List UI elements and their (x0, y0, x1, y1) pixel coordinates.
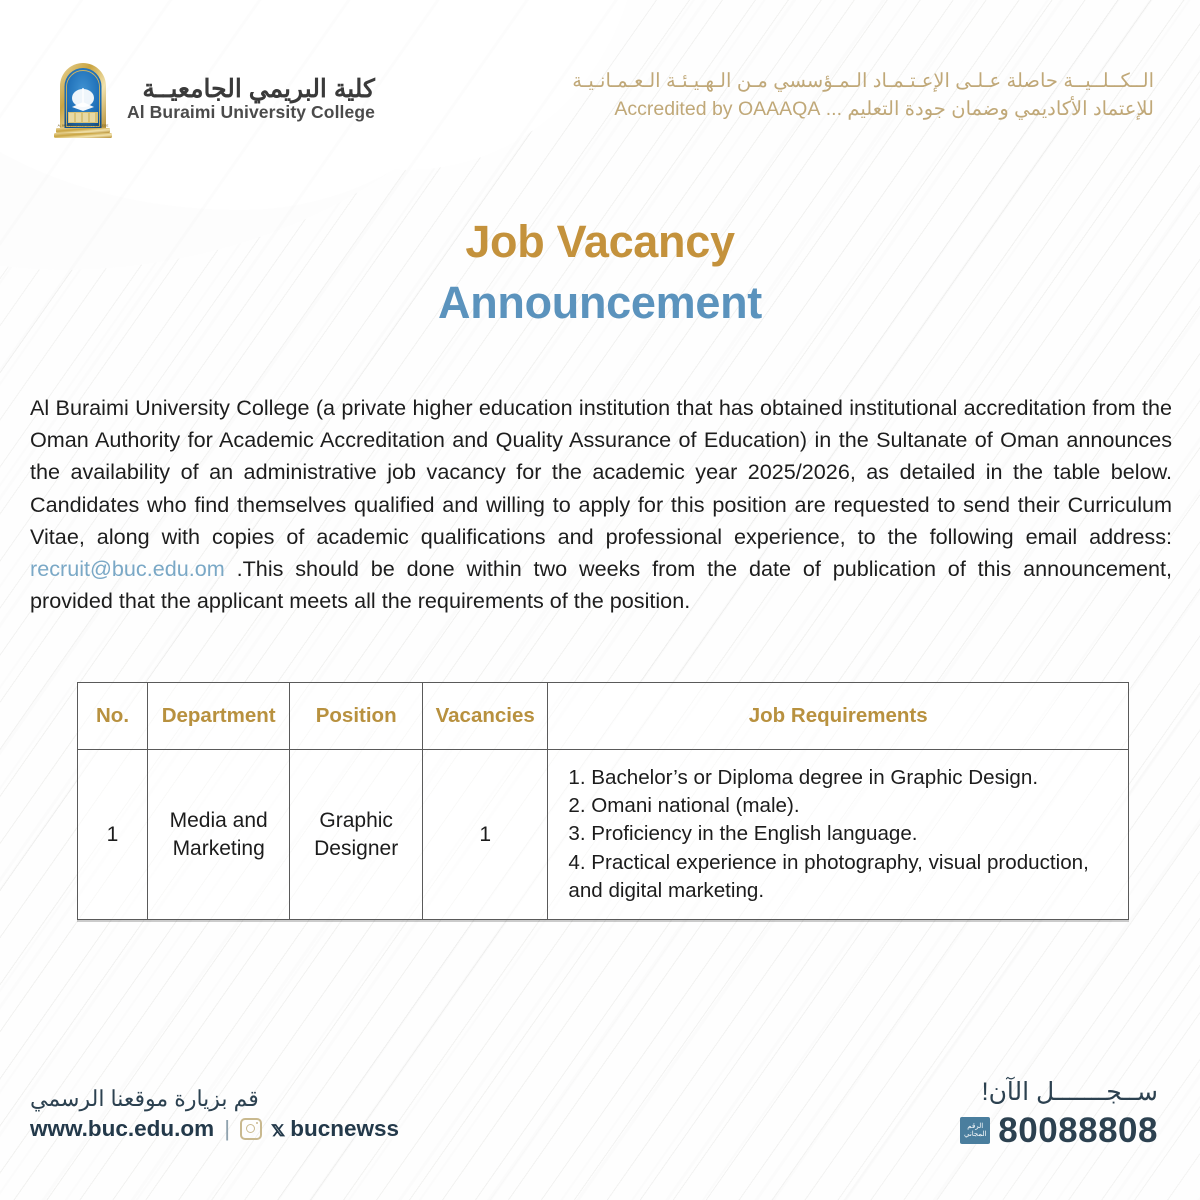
footer-links-row: www.buc.edu.om | 𝕩 bucnewss (30, 1116, 399, 1142)
cell-vacancies: 1 (423, 750, 548, 920)
footer-contact-block: قم بزيارة موقعنا الرسمي www.buc.edu.om |… (30, 1086, 399, 1142)
title-line-gold: Job Vacancy (0, 218, 1200, 265)
poster-canvas: AL BURAIMI UNIVERSITY COLLEGE كلية البري… (0, 0, 1200, 1200)
website-url[interactable]: www.buc.edu.om (30, 1116, 214, 1142)
instagram-icon[interactable] (240, 1118, 262, 1140)
cell-department: Media and Marketing (148, 750, 290, 920)
phone-row: الرقم المجاني 80088808 (960, 1111, 1158, 1151)
position-line-1: Graphic (290, 807, 422, 835)
requirement-item-2: 2. Omani national (male). (568, 792, 1128, 820)
x-twitter-icon[interactable]: 𝕩 (271, 1117, 285, 1142)
requirement-item-3: 3. Proficiency in the English language. (568, 820, 1128, 848)
svg-text:AL BURAIMI UNIVERSITY COLLEGE: AL BURAIMI UNIVERSITY COLLEGE (58, 124, 109, 128)
vacancy-table-head: No. Department Position Vacancies Job Re… (78, 683, 1129, 750)
toll-free-phone-number[interactable]: 80088808 (998, 1111, 1158, 1151)
table-header-row: No. Department Position Vacancies Job Re… (78, 683, 1129, 750)
brand-name-english: Al Buraimi University College (127, 103, 375, 121)
table-row: 1 Media and Marketing Graphic Designer 1… (78, 750, 1129, 920)
requirement-item-4: 4. Practical experience in photography, … (568, 849, 1128, 905)
cell-requirements: 1. Bachelor’s or Diploma degree in Graph… (548, 750, 1129, 920)
position-line-2: Designer (290, 835, 422, 863)
accreditation-line-1: الــكــلــيــة حاصلة عـلـى الإعـتـمـاد ا… (572, 68, 1154, 96)
contact-email[interactable]: recruit@buc.edu.om (30, 556, 225, 581)
brand-names: كلية البريمي الجامعيــة Al Buraimi Unive… (127, 76, 375, 121)
accreditation-statement: الــكــلــيــة حاصلة عـلـى الإعـتـمـاد ا… (572, 68, 1154, 123)
page-header: AL BURAIMI UNIVERSITY COLLEGE كلية البري… (0, 0, 1200, 175)
vacancy-table: No. Department Position Vacancies Job Re… (77, 682, 1129, 920)
column-header-no: No. (78, 683, 148, 750)
visit-website-arabic: قم بزيارة موقعنا الرسمي (30, 1086, 399, 1112)
brand-lockup: AL BURAIMI UNIVERSITY COLLEGE كلية البري… (52, 58, 375, 140)
university-crest-logo: AL BURAIMI UNIVERSITY COLLEGE (52, 58, 114, 140)
cell-position: Graphic Designer (290, 750, 423, 920)
brand-name-arabic: كلية البريمي الجامعيــة (127, 76, 375, 102)
toll-free-badge-icon: الرقم المجاني (960, 1117, 990, 1144)
vacancy-table-body: 1 Media and Marketing Graphic Designer 1… (78, 750, 1129, 920)
title-line-blue: Announcement (0, 279, 1200, 326)
department-line-2: Marketing (148, 835, 289, 863)
footer-divider: | (224, 1116, 230, 1142)
toll-badge-line-2: المجاني (964, 1131, 987, 1139)
requirement-item-1: 1. Bachelor’s or Diploma degree in Graph… (568, 764, 1128, 792)
cell-no: 1 (78, 750, 148, 920)
announcement-body: Al Buraimi University College (a private… (30, 392, 1172, 617)
toll-badge-line-1: الرقم (967, 1123, 983, 1131)
footer-cta-block: ســجـــــــل الآن! الرقم المجاني 8008880… (960, 1078, 1158, 1151)
social-handle[interactable]: bucnewss (290, 1116, 399, 1142)
column-header-vacancies: Vacancies (423, 683, 548, 750)
body-part-1: Al Buraimi University College (a private… (30, 395, 1172, 549)
column-header-requirements: Job Requirements (548, 683, 1129, 750)
accreditation-line-2: للإعتماد الأكاديمي وضمان جودة التعليم ..… (572, 96, 1154, 124)
register-now-arabic: ســجـــــــل الآن! (960, 1078, 1158, 1107)
page-title: Job Vacancy Announcement (0, 218, 1200, 327)
department-line-1: Media and (148, 807, 289, 835)
column-header-department: Department (148, 683, 290, 750)
column-header-position: Position (290, 683, 423, 750)
